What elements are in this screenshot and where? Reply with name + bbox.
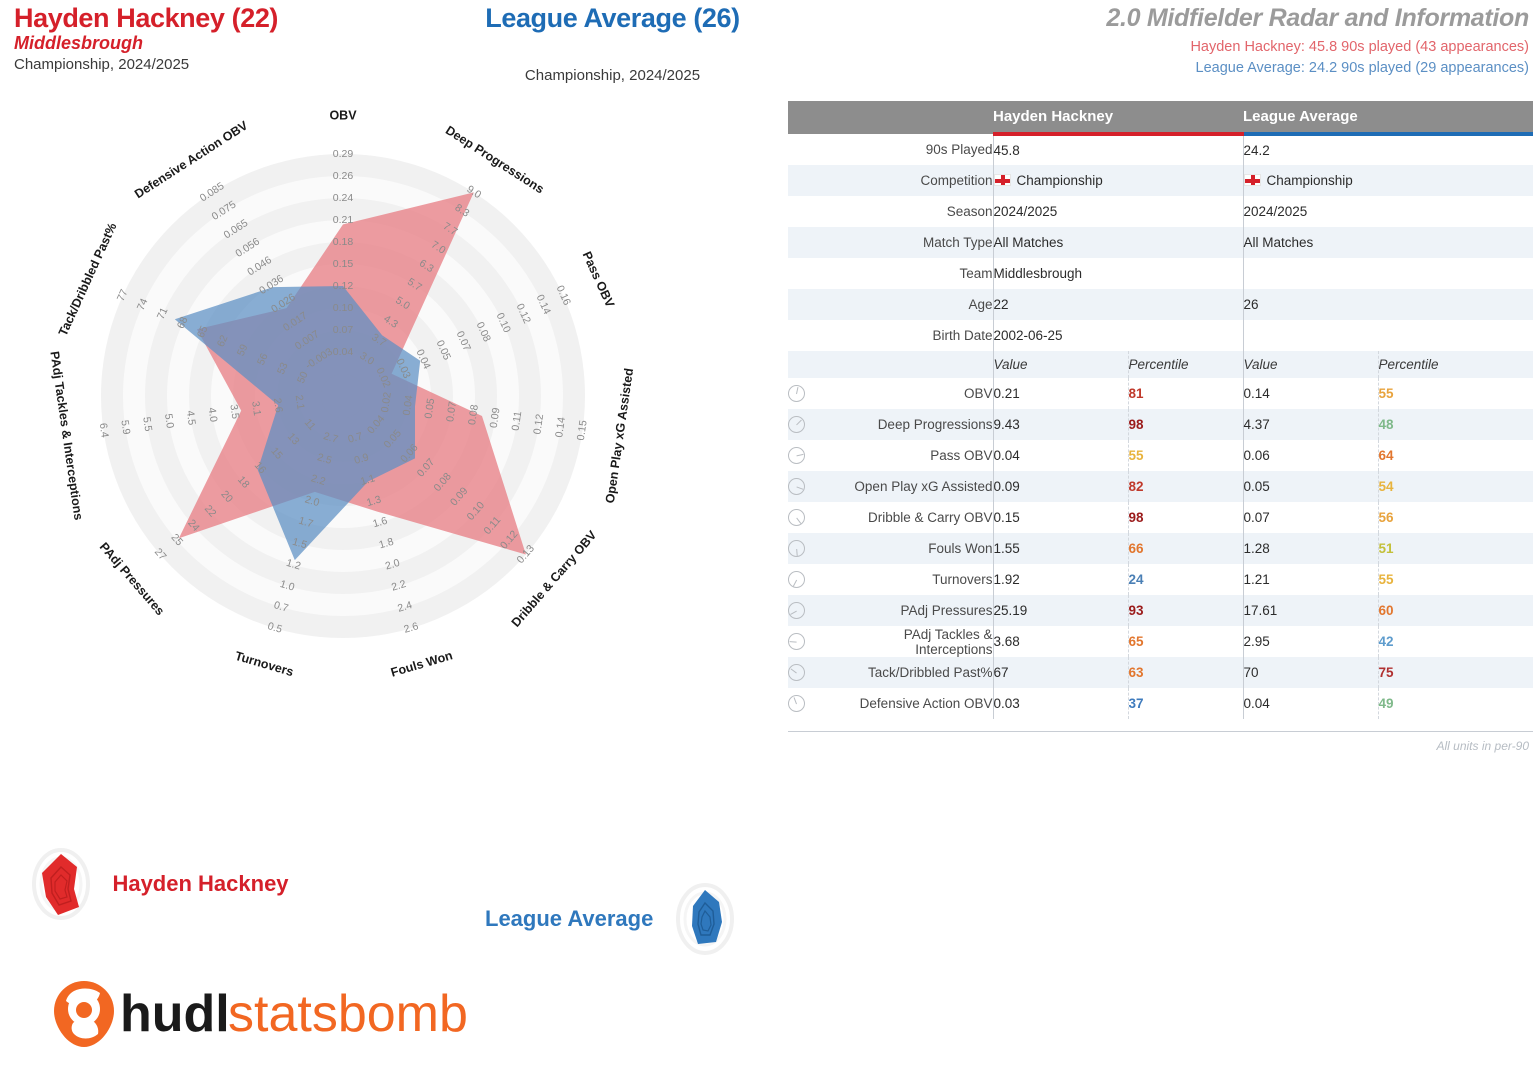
hudl-statsbomb-logo: hudl statsbomb — [48, 975, 468, 1058]
stat-pie-icon — [788, 688, 830, 719]
table-row: TeamMiddlesbrough — [788, 258, 1533, 289]
radar-axis-label: Pass OBV — [580, 249, 618, 310]
radar-tick-label: 0.12 — [333, 280, 354, 292]
radar-chart: 0.290.260.240.210.180.150.120.100.070.04… — [0, 110, 790, 820]
stat-pie-icon — [788, 626, 830, 657]
logo-hudl-text: hudl — [120, 985, 230, 1043]
radar-title: 2.0 Midfielder Radar and Information — [1106, 4, 1529, 33]
row-comparison-percentile: 48 — [1378, 409, 1533, 440]
stat-pie-icon — [788, 440, 830, 471]
radar-tick-label: 0.10 — [333, 302, 354, 314]
comparison-header: League Average (26) Championship, 2024/2… — [440, 4, 785, 84]
row-comparison-percentile: 64 — [1378, 440, 1533, 471]
row-player-value: 1.92 — [993, 564, 1128, 595]
row-player-value: 0.04 — [993, 440, 1128, 471]
row-label: Fouls Won — [830, 533, 993, 564]
row-label: Birth Date — [788, 320, 993, 351]
radar-tick-label: 0.15 — [333, 258, 354, 270]
row-comparison-percentile: 60 — [1378, 595, 1533, 626]
player-team: Middlesbrough — [14, 33, 434, 55]
radar-axis-label: OBV — [329, 110, 357, 122]
row-comparison-value: 2.95 — [1243, 626, 1378, 657]
row-player-value: 3.68 — [993, 626, 1128, 657]
row-comparison-value: 2024/2025 — [1243, 196, 1533, 227]
table-row: 90s Played45.824.2 — [788, 134, 1533, 165]
legend-comparison: League Average — [485, 880, 744, 958]
row-comparison-value: 0.14 — [1243, 378, 1378, 409]
row-comparison-percentile: 55 — [1378, 378, 1533, 409]
row-player-value: 67 — [993, 657, 1128, 688]
radar-svg: 0.290.260.240.210.180.150.120.100.070.04… — [0, 110, 790, 820]
header-blank — [788, 101, 993, 134]
radar-tick-label: 5.9 — [118, 419, 132, 435]
row-player-percentile: 82 — [1128, 471, 1243, 502]
row-player-percentile: 93 — [1128, 595, 1243, 626]
table-row: CompetitionChampionshipChampionship — [788, 165, 1533, 196]
row-comparison-value: 1.28 — [1243, 533, 1378, 564]
row-label: Dribble & Carry OBV — [830, 502, 993, 533]
radar-axis-label: Tack/Dribbled Past% — [56, 221, 120, 338]
row-comparison-value — [1243, 258, 1533, 289]
table-row: Age2226 — [788, 289, 1533, 320]
stat-pie-icon — [788, 409, 830, 440]
radar-axis-label: Open Play xG Assisted — [603, 367, 636, 504]
stat-pie-icon — [788, 378, 830, 409]
row-label: PAdj Tackles & Interceptions — [830, 626, 993, 657]
stat-pie-icon — [788, 564, 830, 595]
row-player-value: 22 — [993, 289, 1243, 320]
row-comparison-value: All Matches — [1243, 227, 1533, 258]
information-table: Hayden Hackney League Average 90s Played… — [788, 101, 1533, 719]
row-player-value: Middlesbrough — [993, 258, 1243, 289]
subheader-player-percentile: Percentile — [1128, 351, 1243, 378]
stat-pie-icon — [788, 533, 830, 564]
radar-tick-label: 0.07 — [333, 324, 354, 336]
row-comparison-value — [1243, 320, 1533, 351]
table-row: Dribble & Carry OBV0.15980.0756 — [788, 502, 1533, 533]
row-comparison-value: 17.61 — [1243, 595, 1378, 626]
legend-player: Hayden Hackney — [22, 845, 289, 923]
row-player-percentile: 66 — [1128, 533, 1243, 564]
row-comparison-value: 70 — [1243, 657, 1378, 688]
row-player-value: 0.03 — [993, 688, 1128, 719]
radar-tick-label: 0.04 — [333, 346, 354, 358]
player-header: Hayden Hackney (22) Middlesbrough Champi… — [14, 4, 434, 75]
radar-tick-label: 0.29 — [333, 148, 354, 160]
radar-title-block: 2.0 Midfielder Radar and Information Hay… — [1106, 4, 1529, 79]
radar-tick-label: 6.4 — [97, 422, 111, 438]
row-player-percentile: 98 — [1128, 409, 1243, 440]
row-label: Season — [788, 196, 993, 227]
radar-tick-label: 5.5 — [140, 416, 154, 432]
row-label: Tack/Dribbled Past% — [830, 657, 993, 688]
row-label: Competition — [788, 165, 993, 196]
row-comparison-percentile: 56 — [1378, 502, 1533, 533]
row-comparison-percentile: 49 — [1378, 688, 1533, 719]
radar-tick-label: 0.24 — [333, 192, 354, 204]
table-bottom-rule — [788, 731, 1533, 732]
row-comparison-value: 1.21 — [1243, 564, 1378, 595]
row-label: Deep Progressions — [830, 409, 993, 440]
row-player-value: 9.43 — [993, 409, 1128, 440]
radar-tick-label: 4.0 — [206, 407, 220, 423]
row-label: Turnovers — [830, 564, 993, 595]
row-comparison-percentile: 42 — [1378, 626, 1533, 657]
player-competition: Championship, 2024/2025 — [14, 55, 434, 75]
header-player: Hayden Hackney — [993, 101, 1243, 134]
logo-statsbomb-text: statsbomb — [228, 985, 468, 1043]
row-label: Open Play xG Assisted — [830, 471, 993, 502]
table-row: Pass OBV0.04550.0664 — [788, 440, 1533, 471]
row-player-value: 0.21 — [993, 378, 1128, 409]
comparison-radar-glyph-icon — [666, 880, 744, 958]
row-player-percentile: 98 — [1128, 502, 1243, 533]
stat-pie-icon — [788, 657, 830, 688]
row-comparison-value: 0.04 — [1243, 688, 1378, 719]
radar-tick-label: 2.6 — [271, 397, 285, 413]
table-row: Tack/Dribbled Past%67637075 — [788, 657, 1533, 688]
player-minutes-line: Hayden Hackney: 45.8 90s played (43 appe… — [1106, 37, 1529, 58]
comparison-competition: Championship, 2024/2025 — [440, 67, 785, 84]
radar-axis-label: Turnovers — [233, 649, 295, 679]
radar-tick-label: 5.0 — [162, 413, 176, 429]
table-row: Fouls Won1.55661.2851 — [788, 533, 1533, 564]
table-row: OBV0.21810.1455 — [788, 378, 1533, 409]
row-player-value: 2024/2025 — [993, 196, 1243, 227]
row-comparison-value: Championship — [1243, 165, 1533, 196]
row-player-percentile: 37 — [1128, 688, 1243, 719]
row-comparison-value: 0.07 — [1243, 502, 1378, 533]
radar-tick-label: 4.5 — [184, 410, 198, 426]
player-name: Hayden Hackney (22) — [14, 4, 434, 33]
table-row: Season2024/20252024/2025 — [788, 196, 1533, 227]
stat-pie-icon — [788, 471, 830, 502]
row-comparison-percentile: 55 — [1378, 564, 1533, 595]
table-row: Match TypeAll MatchesAll Matches — [788, 227, 1533, 258]
row-comparison-percentile: 75 — [1378, 657, 1533, 688]
row-comparison-value: 0.05 — [1243, 471, 1378, 502]
stat-pie-icon — [788, 502, 830, 533]
row-label: Team — [788, 258, 993, 289]
row-player-value: 0.15 — [993, 502, 1128, 533]
table-row: Defensive Action OBV0.03370.0449 — [788, 688, 1533, 719]
row-player-percentile: 63 — [1128, 657, 1243, 688]
row-label: PAdj Pressures — [830, 595, 993, 626]
stat-subheader-row: ValuePercentileValuePercentile — [788, 351, 1533, 378]
row-player-value: 45.8 — [993, 134, 1243, 165]
subheader-player-value: Value — [993, 351, 1128, 378]
table-row: PAdj Tackles & Interceptions3.68652.9542 — [788, 626, 1533, 657]
table-row: Turnovers1.92241.2155 — [788, 564, 1533, 595]
hudl-mark-icon — [54, 981, 114, 1047]
radar-tick-label: 2.1 — [293, 394, 307, 410]
subheader-blank — [788, 351, 993, 378]
row-player-value: 25.19 — [993, 595, 1128, 626]
table-row: PAdj Pressures25.199317.6160 — [788, 595, 1533, 626]
row-player-value: 2002-06-25 — [993, 320, 1243, 351]
radar-axis-label: PAdj Tackles & Interceptions — [47, 350, 85, 521]
radar-tick-label: 0.21 — [333, 214, 354, 226]
row-label: Match Type — [788, 227, 993, 258]
row-player-percentile: 81 — [1128, 378, 1243, 409]
row-comparison-percentile: 51 — [1378, 533, 1533, 564]
row-label: Defensive Action OBV — [830, 688, 993, 719]
table-row: Open Play xG Assisted0.09820.0554 — [788, 471, 1533, 502]
table-row: Birth Date2002-06-25 — [788, 320, 1533, 351]
row-comparison-percentile: 54 — [1378, 471, 1533, 502]
england-flag-icon — [1244, 174, 1261, 186]
row-label: Pass OBV — [830, 440, 993, 471]
stat-rows-body: ValuePercentileValuePercentileOBV0.21810… — [788, 351, 1533, 719]
player-radar-glyph-icon — [22, 845, 100, 923]
table-row: Deep Progressions9.43984.3748 — [788, 409, 1533, 440]
comparison-minutes-line: League Average: 24.2 90s played (29 appe… — [1106, 58, 1529, 79]
radar-tick-label: 0.15 — [575, 419, 590, 441]
comparison-name: League Average (26) — [440, 4, 785, 33]
row-label: 90s Played — [788, 134, 993, 165]
table-header-row: Hayden Hackney League Average — [788, 101, 1533, 134]
row-player-value: 1.55 — [993, 533, 1128, 564]
row-player-value: Championship — [993, 165, 1243, 196]
info-rows-body: 90s Played45.824.2CompetitionChampionshi… — [788, 134, 1533, 351]
row-comparison-value: 26 — [1243, 289, 1533, 320]
row-comparison-value: 4.37 — [1243, 409, 1378, 440]
radar-tick-label: 3.1 — [249, 400, 263, 416]
row-player-percentile: 24 — [1128, 564, 1243, 595]
subheader-comparison-percentile: Percentile — [1378, 351, 1533, 378]
row-player-percentile: 65 — [1128, 626, 1243, 657]
radar-tick-label: 0.18 — [333, 236, 354, 248]
radar-tick-label: 3.5 — [227, 404, 241, 420]
stat-pie-icon — [788, 595, 830, 626]
legend-player-label: Hayden Hackney — [112, 871, 288, 897]
row-label: OBV — [830, 378, 993, 409]
row-comparison-value: 24.2 — [1243, 134, 1533, 165]
radar-axis-label: Fouls Won — [389, 648, 454, 679]
row-player-percentile: 55 — [1128, 440, 1243, 471]
row-player-value: All Matches — [993, 227, 1243, 258]
table-footnote: All units in per-90 — [1437, 739, 1530, 753]
row-comparison-value: 0.06 — [1243, 440, 1378, 471]
subheader-comparison-value: Value — [1243, 351, 1378, 378]
row-player-value: 0.09 — [993, 471, 1128, 502]
england-flag-icon — [994, 174, 1011, 186]
row-label: Age — [788, 289, 993, 320]
header-comparison: League Average — [1243, 101, 1533, 134]
radar-tick-label: 0.26 — [333, 170, 354, 182]
legend-comparison-label: League Average — [485, 906, 653, 932]
